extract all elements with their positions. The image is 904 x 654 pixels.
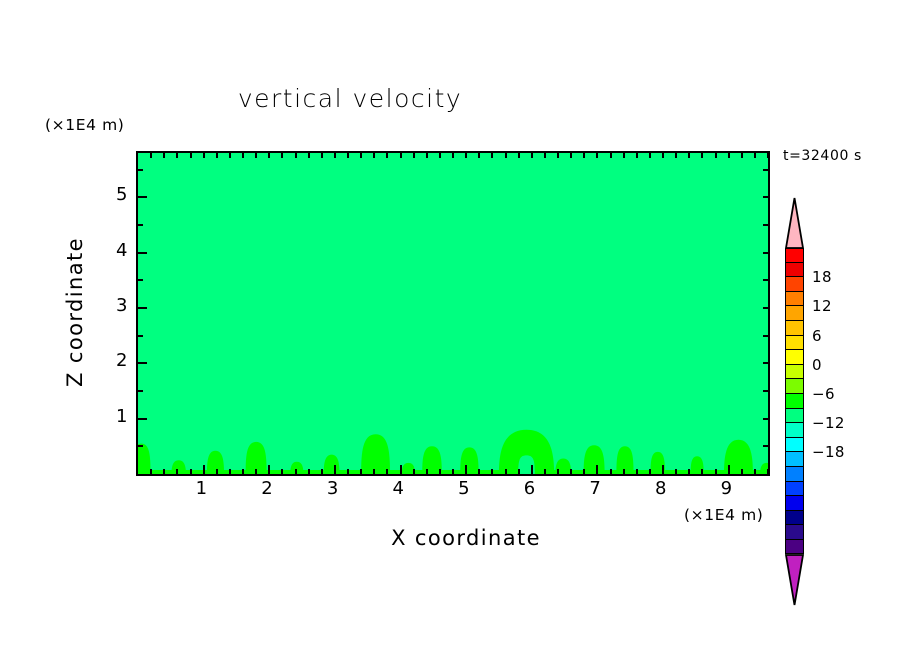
top-axis-tick [281, 153, 283, 158]
colorbar-band [785, 365, 804, 380]
right-axis-tick [763, 335, 768, 337]
colorbar-band [785, 540, 804, 555]
right-axis-tick [763, 252, 768, 254]
y-tick-label: 1 [88, 406, 128, 427]
top-axis-tick [347, 153, 349, 158]
colorbar-band [785, 467, 804, 482]
top-axis-tick [649, 153, 651, 158]
x-major-tick [334, 465, 336, 474]
colorbar-band [785, 452, 804, 467]
x-minor-tick [150, 469, 152, 474]
top-axis-tick [176, 153, 178, 158]
top-axis-tick [531, 153, 533, 158]
x-minor-tick [583, 469, 585, 474]
y-minor-tick [138, 335, 143, 337]
colorbar-band [785, 482, 804, 497]
top-axis-tick [701, 153, 703, 158]
x-tick-label: 5 [444, 478, 484, 499]
top-axis-tick [255, 153, 257, 158]
colorbar-band [785, 379, 804, 394]
y-minor-tick [138, 169, 143, 171]
x-minor-tick [176, 469, 178, 474]
top-axis-tick [728, 153, 730, 158]
x-tick-label: 2 [247, 478, 287, 499]
colorbar-low-cap [785, 554, 804, 606]
colorbar-band [785, 292, 804, 307]
contour-field [138, 153, 768, 474]
top-axis-tick [610, 153, 612, 158]
y-tick-label: 2 [88, 350, 128, 371]
y-axis-units-label: (×1E4 m) [45, 116, 124, 134]
y-major-tick [138, 252, 147, 254]
right-axis-tick [763, 445, 768, 447]
x-axis-units-label: (×1E4 m) [684, 506, 763, 524]
colorbar-band [785, 263, 804, 278]
top-axis-tick [596, 153, 598, 158]
x-minor-tick [386, 469, 388, 474]
x-tick-label: 3 [313, 478, 353, 499]
x-major-tick [203, 465, 205, 474]
plume-contour [290, 462, 303, 474]
time-annotation: t=32400 s [783, 148, 862, 164]
right-axis-tick [763, 390, 768, 392]
top-axis-tick [150, 153, 152, 158]
colorbar [785, 248, 804, 554]
y-major-tick [138, 307, 147, 309]
x-major-tick [531, 465, 533, 474]
top-axis-tick [321, 153, 323, 158]
top-axis-tick [688, 153, 690, 158]
top-axis-tick [360, 153, 362, 158]
x-minor-tick [623, 469, 625, 474]
top-axis-tick [386, 153, 388, 158]
top-axis-tick [741, 153, 743, 158]
x-minor-tick [741, 469, 743, 474]
colorbar-band [785, 511, 804, 526]
top-axis-tick [203, 153, 205, 158]
right-axis-tick [763, 279, 768, 281]
x-minor-tick [347, 469, 349, 474]
right-axis-tick [763, 169, 768, 171]
x-minor-tick [242, 469, 244, 474]
right-axis-tick [763, 362, 768, 364]
y-major-tick [138, 418, 147, 420]
top-axis-tick [636, 153, 638, 158]
colorbar-band [785, 336, 804, 351]
x-minor-tick [255, 469, 257, 474]
x-minor-tick [767, 469, 769, 474]
colorbar-tick-label: −6 [812, 385, 835, 403]
right-axis-tick [763, 196, 768, 198]
colorbar-band [785, 423, 804, 438]
plume-contours [138, 153, 768, 474]
x-tick-label: 1 [182, 478, 222, 499]
top-axis-tick [662, 153, 664, 158]
x-major-tick [728, 465, 730, 474]
x-minor-tick [636, 469, 638, 474]
colorbar-band [785, 306, 804, 321]
x-minor-tick [229, 469, 231, 474]
top-axis-tick [439, 153, 441, 158]
top-axis-tick [478, 153, 480, 158]
top-axis-tick [518, 153, 520, 158]
y-major-tick [138, 362, 147, 364]
plume-contour [324, 455, 340, 474]
y-minor-tick [138, 445, 143, 447]
x-minor-tick [610, 469, 612, 474]
x-minor-tick [190, 469, 192, 474]
top-axis-tick [767, 153, 769, 158]
right-axis-tick [763, 418, 768, 420]
plume-contour [172, 460, 186, 474]
x-tick-label: 8 [641, 478, 681, 499]
top-axis-tick [242, 153, 244, 158]
x-minor-tick [675, 469, 677, 474]
x-minor-tick [715, 469, 717, 474]
x-tick-label: 9 [707, 478, 747, 499]
x-minor-tick [701, 469, 703, 474]
colorbar-tick-label: 12 [812, 297, 832, 315]
top-axis-tick [216, 153, 218, 158]
x-minor-tick [649, 469, 651, 474]
x-minor-tick [321, 469, 323, 474]
x-minor-tick [426, 469, 428, 474]
colorbar-band [785, 496, 804, 511]
colorbar-tick-label: −12 [812, 414, 845, 432]
top-axis-tick [557, 153, 559, 158]
top-axis-tick [268, 153, 270, 158]
colorbar-band [785, 321, 804, 336]
plume-contour [616, 446, 633, 474]
top-axis-tick [675, 153, 677, 158]
x-major-tick [400, 465, 402, 474]
y-axis-title: Z coordinate [63, 212, 87, 412]
top-axis-tick [190, 153, 192, 158]
top-axis-tick [295, 153, 297, 158]
colorbar-band [785, 248, 804, 263]
colorbar-tick-label: −18 [812, 443, 845, 461]
x-minor-tick [216, 469, 218, 474]
top-axis-tick [465, 153, 467, 158]
top-axis-tick [229, 153, 231, 158]
x-axis-title: X coordinate [266, 526, 666, 550]
x-minor-tick [557, 469, 559, 474]
x-major-tick [465, 465, 467, 474]
y-minor-tick [138, 224, 143, 226]
colorbar-down-arrow [785, 554, 804, 606]
plume-contour [138, 444, 151, 474]
x-minor-tick [570, 469, 572, 474]
x-minor-tick [308, 469, 310, 474]
x-minor-tick [360, 469, 362, 474]
x-minor-tick [491, 469, 493, 474]
x-minor-tick [754, 469, 756, 474]
top-axis-tick [491, 153, 493, 158]
top-axis-tick [308, 153, 310, 158]
colorbar-up-arrow [785, 197, 804, 249]
top-axis-tick [505, 153, 507, 158]
x-minor-tick [163, 469, 165, 474]
top-axis-tick [413, 153, 415, 158]
colorbar-band [785, 277, 804, 292]
colorbar-tick-label: 18 [812, 268, 832, 286]
colorbar-tick-label: 0 [812, 356, 822, 374]
x-minor-tick [518, 469, 520, 474]
colorbar-band [785, 350, 804, 365]
contour-plot-area [136, 151, 770, 476]
top-axis-tick [452, 153, 454, 158]
x-minor-tick [688, 469, 690, 474]
x-minor-tick [505, 469, 507, 474]
colorbar-band [785, 438, 804, 453]
right-axis-tick [763, 307, 768, 309]
right-axis-tick [763, 224, 768, 226]
x-minor-tick [373, 469, 375, 474]
x-minor-tick [281, 469, 283, 474]
top-axis-tick [400, 153, 402, 158]
x-minor-tick [478, 469, 480, 474]
colorbar-high-cap [785, 197, 804, 249]
colorbar-band [785, 394, 804, 409]
colorbar-tick-label: 6 [812, 327, 822, 345]
x-tick-label: 7 [575, 478, 615, 499]
colorbar-band [785, 409, 804, 424]
x-minor-tick [295, 469, 297, 474]
top-axis-tick [754, 153, 756, 158]
x-minor-tick [544, 469, 546, 474]
top-axis-tick [623, 153, 625, 158]
top-axis-tick [373, 153, 375, 158]
y-minor-tick [138, 279, 143, 281]
chart-title: vertical velocity [0, 84, 700, 113]
x-minor-tick [413, 469, 415, 474]
x-major-tick [662, 465, 664, 474]
plume-contour [460, 447, 478, 474]
y-tick-label: 5 [88, 184, 128, 205]
top-axis-tick [334, 153, 336, 158]
x-tick-label: 6 [510, 478, 550, 499]
top-axis-tick [570, 153, 572, 158]
top-axis-tick [544, 153, 546, 158]
x-major-tick [268, 465, 270, 474]
top-axis-tick [715, 153, 717, 158]
plume-contour [584, 445, 605, 474]
y-tick-label: 4 [88, 240, 128, 261]
y-minor-tick [138, 390, 143, 392]
x-major-tick [596, 465, 598, 474]
colorbar-band [785, 525, 804, 540]
y-major-tick [138, 196, 147, 198]
x-minor-tick [452, 469, 454, 474]
top-axis-tick [163, 153, 165, 158]
x-minor-tick [439, 469, 441, 474]
x-tick-label: 4 [379, 478, 419, 499]
top-axis-tick [426, 153, 428, 158]
top-axis-tick [583, 153, 585, 158]
y-tick-label: 3 [88, 295, 128, 316]
